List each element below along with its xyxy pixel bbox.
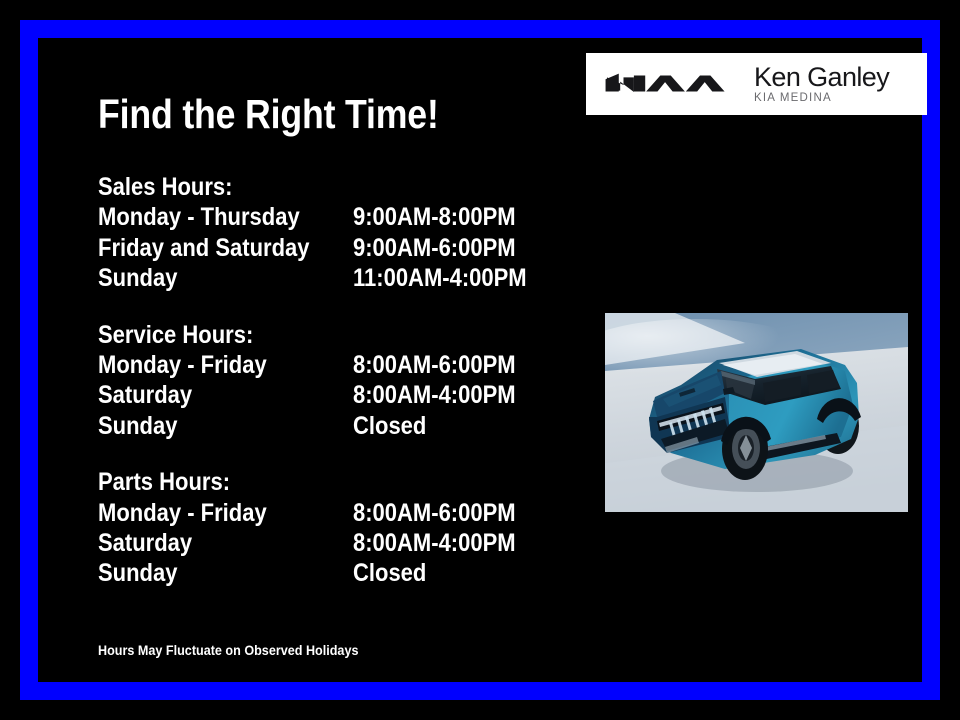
hours-group-sales: Sales Hours: Monday - Thursday 9:00AM-8:… xyxy=(98,172,568,294)
hours-group-parts: Parts Hours: Monday - Friday 8:00AM-6:00… xyxy=(98,467,568,589)
dealer-name-block: Ken Ganley KIA MEDINA xyxy=(754,63,889,105)
hours-row: Saturday 8:00AM-4:00PM xyxy=(98,528,568,558)
hours-row-time: 9:00AM-8:00PM xyxy=(353,202,516,232)
hours-row-days: Friday and Saturday xyxy=(98,233,322,263)
hours-group-service: Service Hours: Monday - Friday 8:00AM-6:… xyxy=(98,320,568,442)
hours-row: Sunday Closed xyxy=(98,411,568,441)
hours-row-time: Closed xyxy=(353,411,426,441)
hours-row-time: 8:00AM-4:00PM xyxy=(353,528,516,558)
slide-content-area: Find the Right Time! Sales Hours: Monday… xyxy=(38,38,922,682)
hours-row-time: 8:00AM-4:00PM xyxy=(353,380,516,410)
hours-row-days: Sunday xyxy=(98,558,322,588)
kia-logo-icon xyxy=(604,67,728,101)
hours-row: Saturday 8:00AM-4:00PM xyxy=(98,380,568,410)
dealer-logo-panel: Ken Ganley KIA MEDINA xyxy=(586,53,927,115)
hours-row-days: Monday - Thursday xyxy=(98,202,322,232)
hours-row-days: Sunday xyxy=(98,263,322,293)
hours-row-days: Sunday xyxy=(98,411,322,441)
kia-ev9-suv-photo xyxy=(605,313,908,512)
dealer-subtitle: KIA MEDINA xyxy=(754,92,889,105)
hours-row-days: Saturday xyxy=(98,528,322,558)
hours-row-time: 8:00AM-6:00PM xyxy=(353,498,516,528)
slide-canvas: Find the Right Time! Sales Hours: Monday… xyxy=(0,0,960,720)
hours-group-heading: Sales Hours: xyxy=(98,172,512,202)
hours-row-time: Closed xyxy=(353,558,426,588)
hours-row-time: 9:00AM-6:00PM xyxy=(353,233,516,263)
hours-row-days: Monday - Friday xyxy=(98,498,322,528)
holiday-disclaimer: Hours May Fluctuate on Observed Holidays xyxy=(98,642,358,658)
hours-row: Monday - Thursday 9:00AM-8:00PM xyxy=(98,202,568,232)
hours-row-time: 8:00AM-6:00PM xyxy=(353,350,516,380)
hours-listing: Sales Hours: Monday - Thursday 9:00AM-8:… xyxy=(98,172,568,589)
hours-row: Sunday Closed xyxy=(98,558,568,588)
hours-row-time: 11:00AM-4:00PM xyxy=(353,263,527,293)
hours-row-days: Saturday xyxy=(98,380,322,410)
blue-border-frame: Find the Right Time! Sales Hours: Monday… xyxy=(20,20,940,700)
page-title: Find the Right Time! xyxy=(98,94,439,135)
hours-group-heading: Parts Hours: xyxy=(98,467,512,497)
hours-row-days: Monday - Friday xyxy=(98,350,322,380)
hours-row: Monday - Friday 8:00AM-6:00PM xyxy=(98,498,568,528)
hours-row: Monday - Friday 8:00AM-6:00PM xyxy=(98,350,568,380)
hours-row: Sunday 11:00AM-4:00PM xyxy=(98,263,568,293)
hours-group-heading: Service Hours: xyxy=(98,320,512,350)
dealer-name: Ken Ganley xyxy=(754,63,889,92)
hours-row: Friday and Saturday 9:00AM-6:00PM xyxy=(98,233,568,263)
